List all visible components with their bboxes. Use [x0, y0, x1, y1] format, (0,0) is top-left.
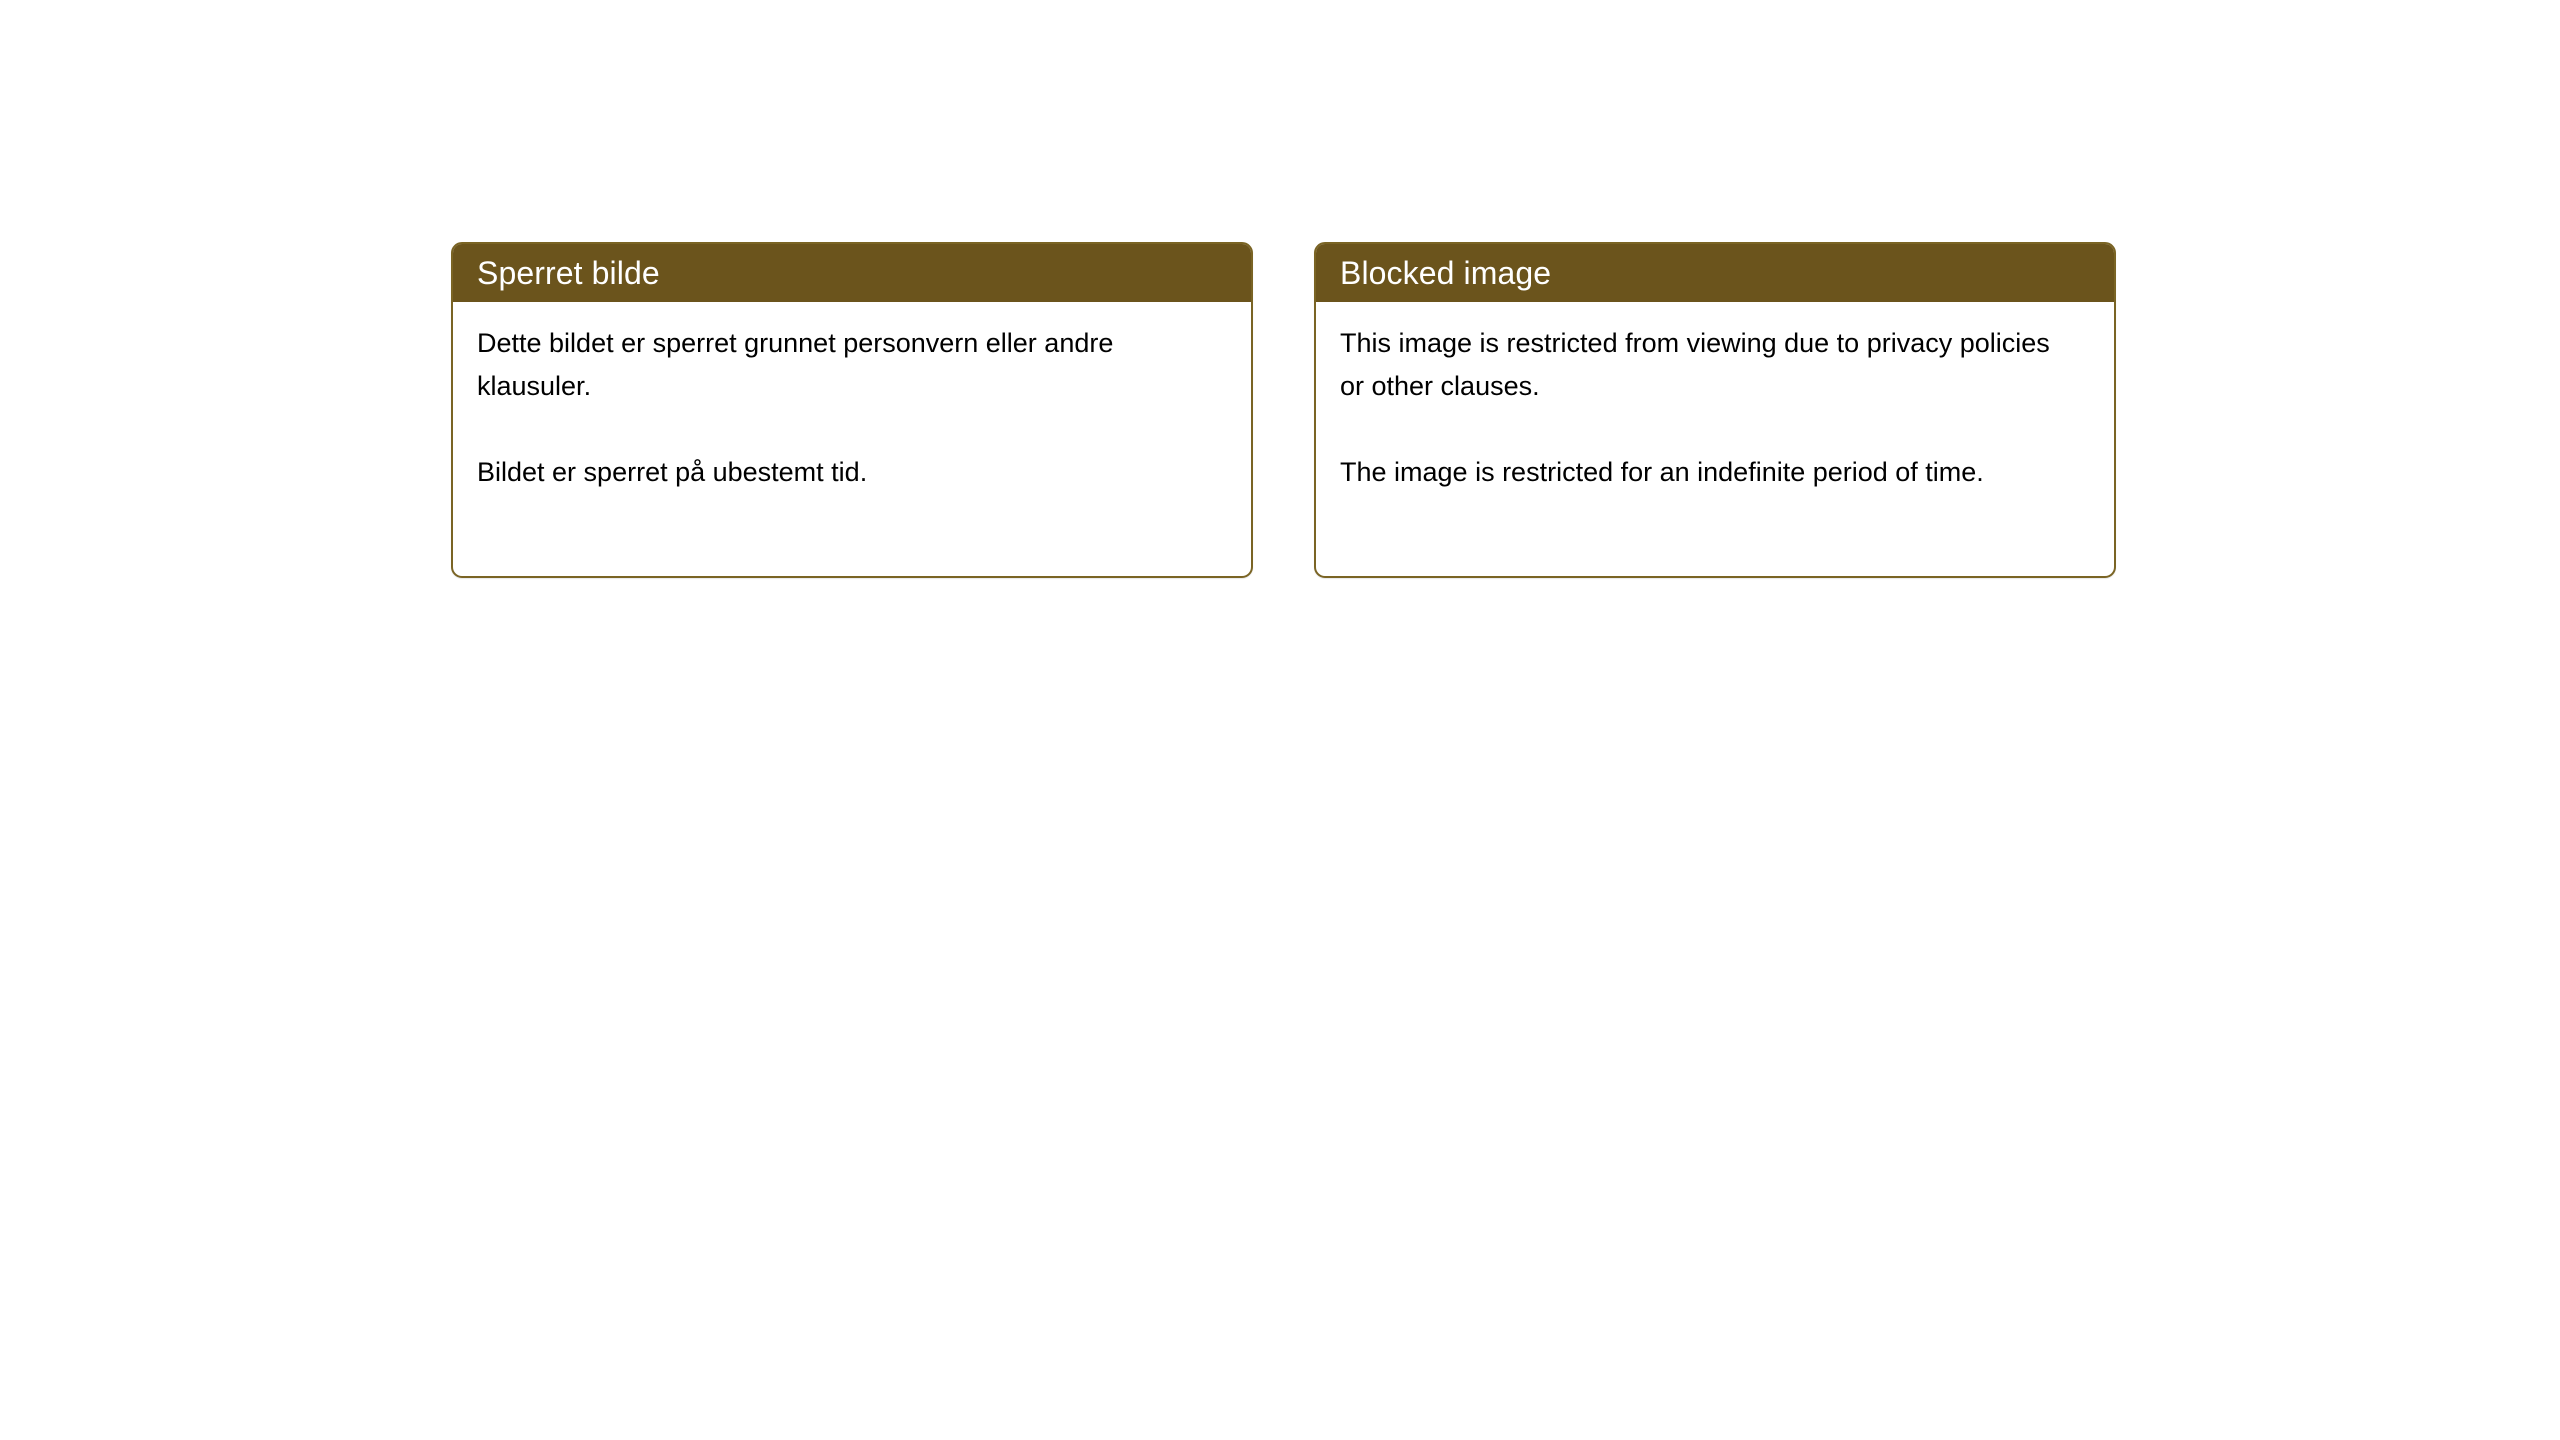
blocked-image-card-norwegian: Sperret bilde Dette bildet er sperret gr…	[451, 242, 1253, 578]
card-body-english: This image is restricted from viewing du…	[1316, 302, 2114, 494]
card-paragraph-reason-norwegian: Dette bildet er sperret grunnet personve…	[477, 322, 1217, 408]
page-root: Sperret bilde Dette bildet er sperret gr…	[0, 0, 2560, 1440]
card-paragraph-duration-english: The image is restricted for an indefinit…	[1340, 451, 2080, 494]
blocked-image-card-english: Blocked image This image is restricted f…	[1314, 242, 2116, 578]
card-paragraph-duration-norwegian: Bildet er sperret på ubestemt tid.	[477, 451, 1217, 494]
card-title-english: Blocked image	[1340, 257, 1551, 289]
card-header-english: Blocked image	[1316, 244, 2114, 302]
card-paragraph-reason-english: This image is restricted from viewing du…	[1340, 322, 2080, 408]
card-title-norwegian: Sperret bilde	[477, 257, 660, 289]
card-header-norwegian: Sperret bilde	[453, 244, 1251, 302]
blocked-image-notice-group: Sperret bilde Dette bildet er sperret gr…	[451, 242, 2116, 578]
card-body-norwegian: Dette bildet er sperret grunnet personve…	[453, 302, 1251, 494]
